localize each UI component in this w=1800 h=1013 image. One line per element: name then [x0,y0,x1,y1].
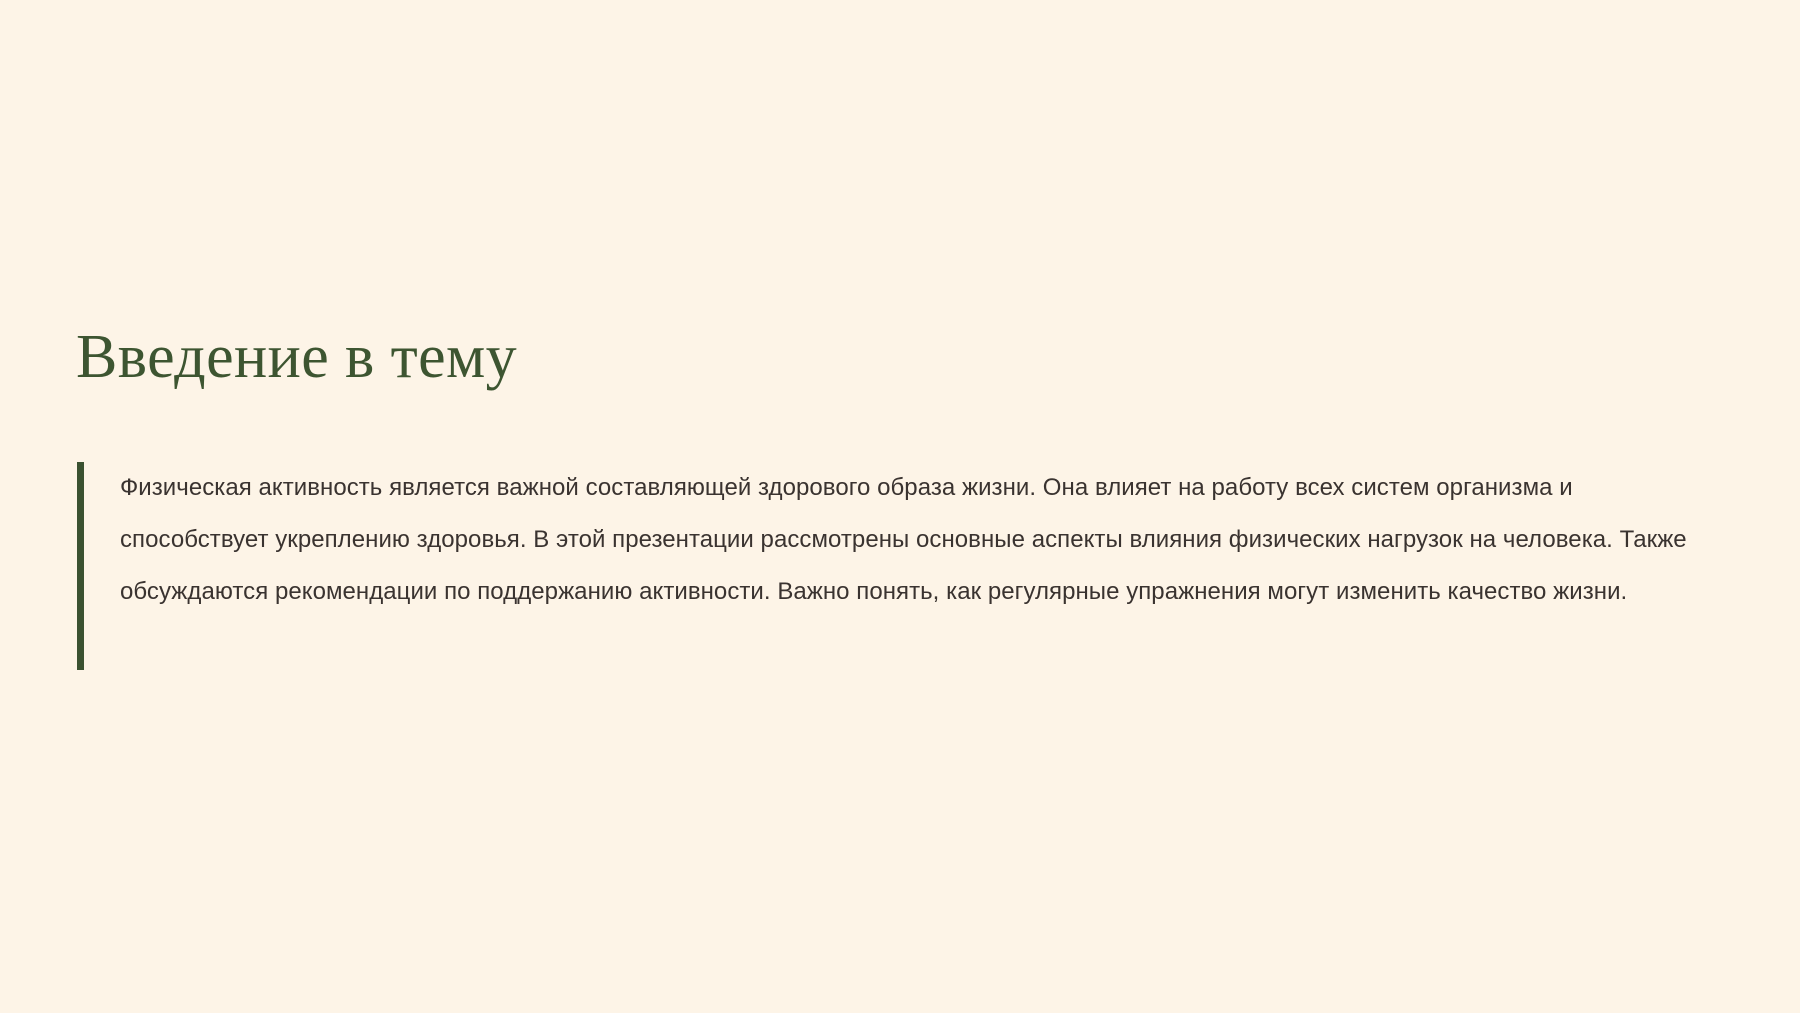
accent-bar [77,462,84,670]
body-callout-block: Физическая активность является важной со… [77,462,1717,670]
page-title: Введение в тему [76,323,517,392]
presentation-slide: Введение в тему Физическая активность яв… [0,0,1800,1013]
body-paragraph: Физическая активность является важной со… [84,462,1717,670]
